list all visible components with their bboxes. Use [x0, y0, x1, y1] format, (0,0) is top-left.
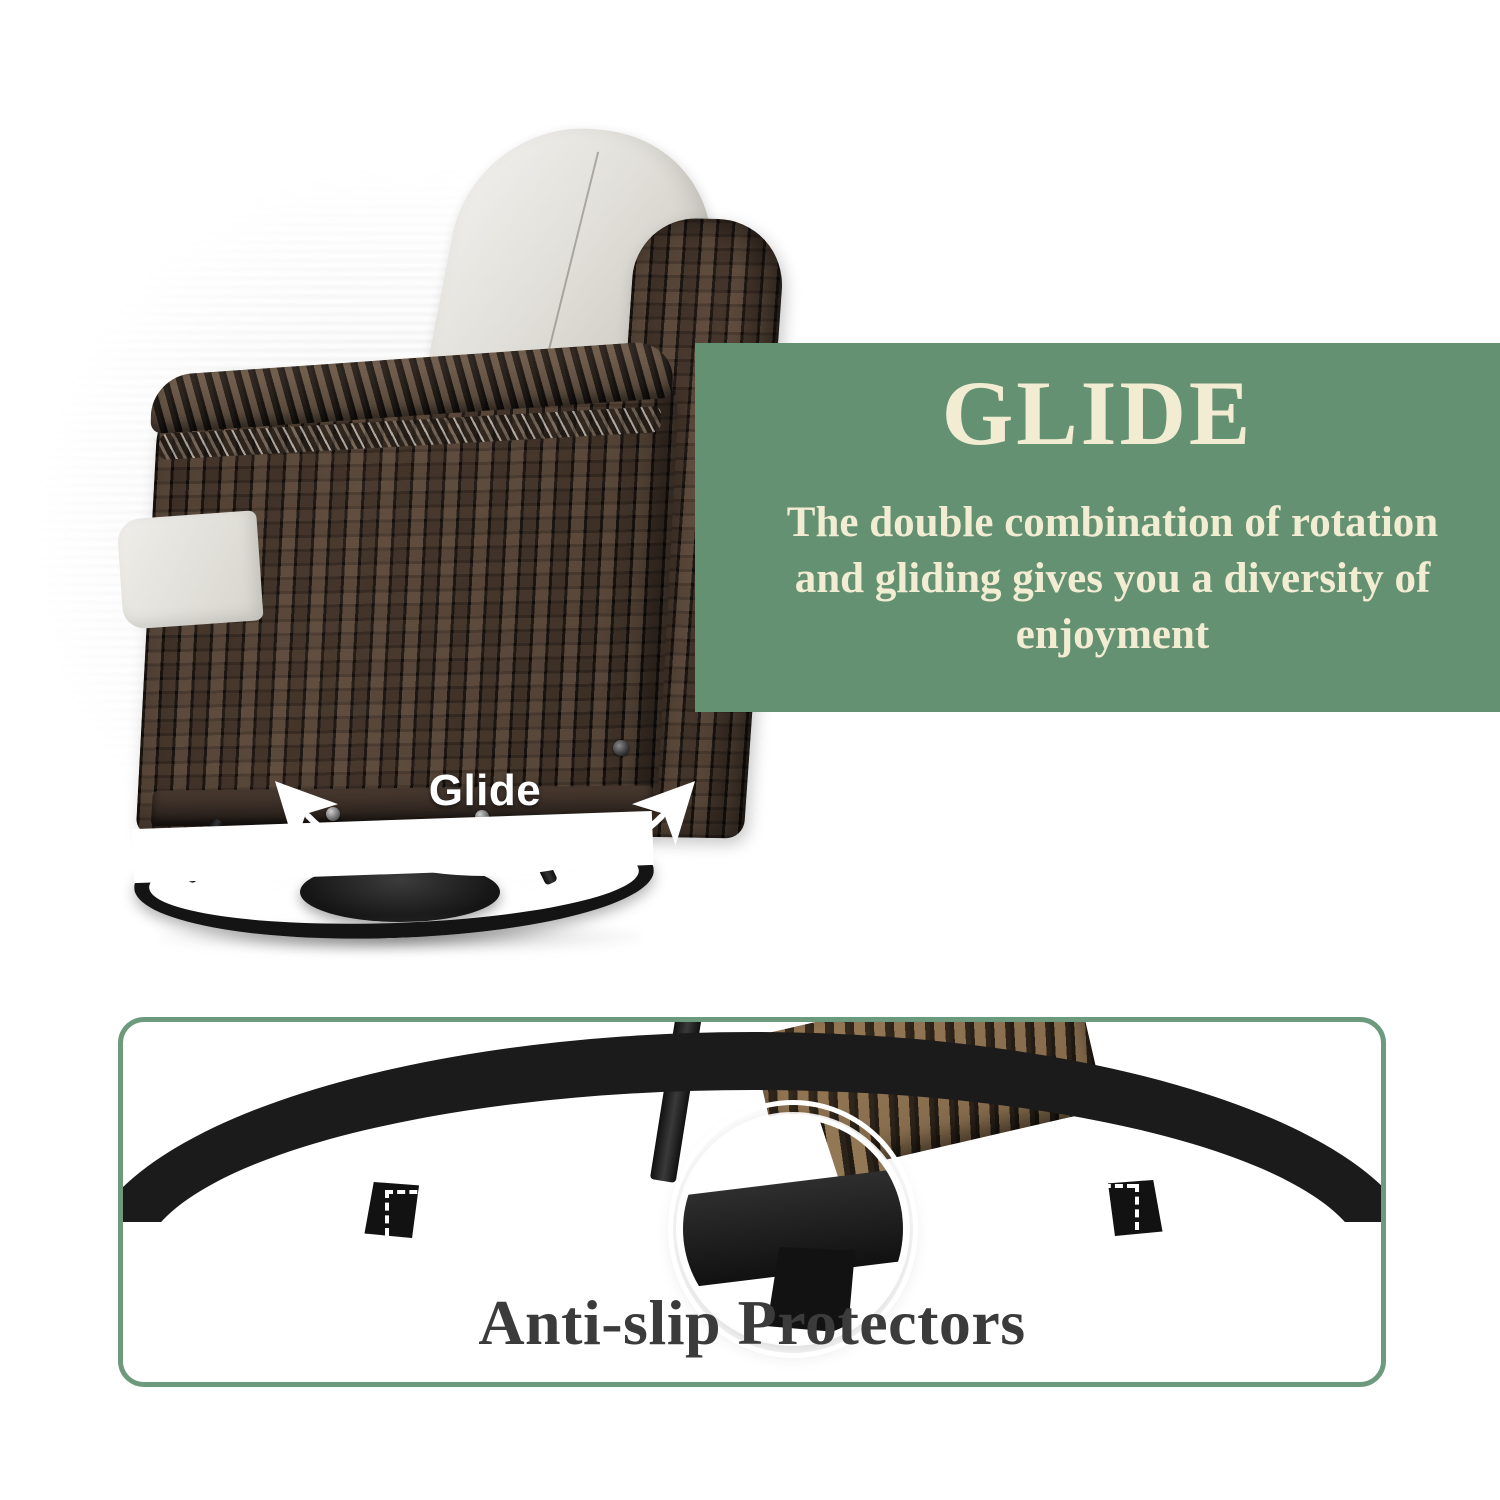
panel-headline: GLIDE [695, 367, 1500, 459]
base-ring-photo [123, 1022, 1381, 1272]
swivel-glider-chair-image: Glide [100, 120, 780, 910]
measure-dash-tick [385, 1190, 389, 1236]
anti-slip-caption: Anti-slip Protectors [123, 1286, 1381, 1360]
frame-screw [613, 740, 629, 756]
measure-dash-line [385, 1190, 685, 1194]
seat-cushion [116, 510, 263, 629]
product-feature-image: Glide GLIDE The double combinati [0, 0, 1500, 1500]
top-feature-section: Glide GLIDE The double combinati [0, 0, 1500, 1000]
anti-slip-panel: Anti-slip Protectors [118, 1017, 1386, 1387]
panel-subcopy: The double combination of rotation and g… [753, 495, 1472, 663]
glide-curved-arrow-icon [270, 760, 700, 910]
measure-dash-tick [1135, 1184, 1139, 1230]
glide-info-panel: GLIDE The double combination of rotation… [695, 343, 1500, 712]
glide-callout: Glide [270, 760, 700, 910]
